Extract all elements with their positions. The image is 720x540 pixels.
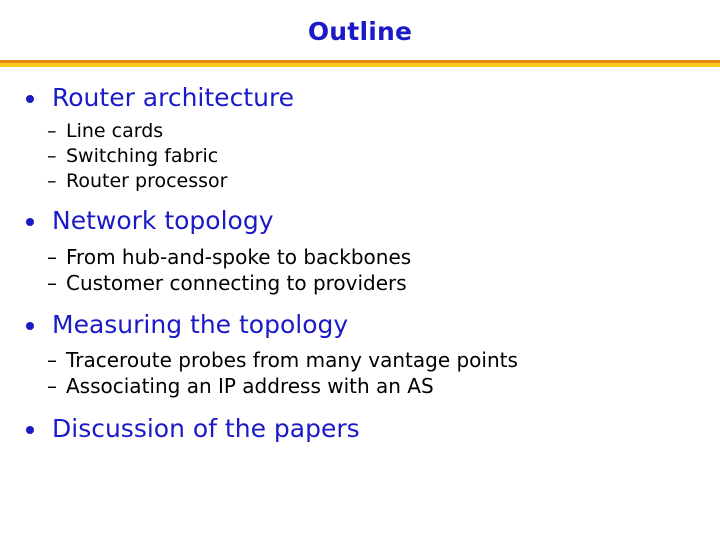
bullet-dot-icon: [26, 426, 34, 434]
bullet-dot-icon: [26, 218, 34, 226]
bullet-level2-label: Router processor: [66, 170, 227, 192]
dash-icon: –: [47, 144, 57, 169]
outline-body: Router architecture – Line cards – Switc…: [0, 80, 720, 540]
bullet-level2-associating-ip-address: – Associating an IP address with an AS: [0, 373, 720, 399]
outline-group-router-architecture: Router architecture – Line cards – Switc…: [0, 83, 720, 194]
dash-icon: –: [47, 373, 57, 399]
bullet-dot-icon: [26, 322, 34, 330]
bullet-level2-label: From hub-and-spoke to backbones: [66, 245, 411, 269]
page-title: Outline: [0, 17, 720, 47]
bullet-level2-label: Customer connecting to providers: [66, 271, 407, 295]
dash-icon: –: [47, 119, 57, 144]
bullet-level1-label: Discussion of the papers: [52, 414, 360, 443]
bullet-level1-discussion-of-the-papers: Discussion of the papers: [0, 414, 720, 444]
bullet-level2-label: Switching fabric: [66, 145, 218, 167]
bullet-level2-traceroute-probes: – Traceroute probes from many vantage po…: [0, 347, 720, 373]
dash-icon: –: [47, 347, 57, 373]
bullet-level2-router-processor: – Router processor: [0, 169, 720, 194]
dash-icon: –: [47, 270, 57, 296]
dash-icon: –: [47, 169, 57, 194]
bullet-level2-label: Traceroute probes from many vantage poin…: [66, 348, 518, 372]
outline-group-discussion: Discussion of the papers: [0, 414, 720, 444]
presentation-slide: Outline Router architecture – Line cards…: [0, 0, 720, 540]
bullet-level1-label: Router architecture: [52, 83, 294, 112]
divider-bottom-band: [0, 63, 720, 67]
outline-group-measuring-topology: Measuring the topology – Traceroute prob…: [0, 310, 720, 399]
dash-icon: –: [47, 244, 57, 270]
bullet-level1-label: Network topology: [52, 206, 274, 235]
bullet-dot-icon: [26, 95, 34, 103]
bullet-level2-label: Line cards: [66, 120, 163, 142]
outline-group-network-topology: Network topology – From hub-and-spoke to…: [0, 206, 720, 296]
bullet-level2-customer-connecting: – Customer connecting to providers: [0, 270, 720, 296]
title-divider: [0, 60, 720, 67]
bullet-level1-measuring-the-topology: Measuring the topology: [0, 310, 720, 340]
bullet-level2-label: Associating an IP address with an AS: [66, 374, 434, 398]
bullet-level2-hub-and-spoke: – From hub-and-spoke to backbones: [0, 244, 720, 270]
bullet-level2-line-cards: – Line cards: [0, 119, 720, 144]
bullet-level1-network-topology: Network topology: [0, 206, 720, 236]
bullet-level1-router-architecture: Router architecture: [0, 83, 720, 113]
bullet-level2-switching-fabric: – Switching fabric: [0, 144, 720, 169]
bullet-level1-label: Measuring the topology: [52, 310, 348, 339]
